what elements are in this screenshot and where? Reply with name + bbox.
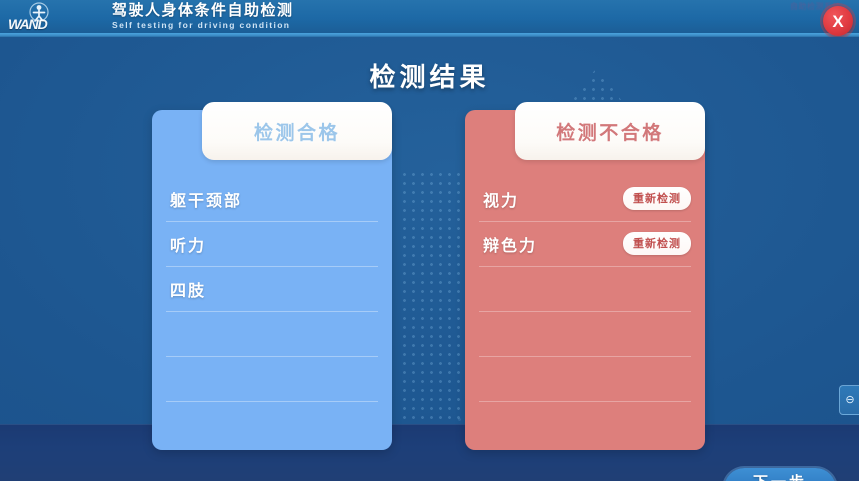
list-item-label: 四肢	[170, 277, 206, 301]
card-pass-tab-label: 检测合格	[254, 118, 340, 145]
list-item[interactable]: 躯干颈部	[152, 176, 392, 221]
list-item-empty	[152, 356, 392, 401]
app-title-en: Self testing for driving condition	[112, 21, 294, 30]
list-item[interactable]: 四肢	[152, 266, 392, 311]
list-item-label: 躯干颈部	[170, 187, 242, 211]
app-title-cn: 驾驶人身体条件自助检测	[112, 3, 294, 18]
brand-logo: WAND	[0, 0, 112, 33]
list-item-empty	[152, 401, 392, 446]
close-icon-label: X	[832, 13, 843, 30]
next-step-button[interactable]: 下一步 next	[724, 468, 836, 481]
list-item[interactable]: 听力	[152, 221, 392, 266]
list-item[interactable]: 视力 重新检测	[465, 176, 705, 221]
card-pass-rows: 躯干颈部 听力 四肢	[152, 176, 392, 450]
list-item-empty	[465, 356, 705, 401]
list-item-empty	[465, 266, 705, 311]
list-item-label: 辩色力	[483, 232, 537, 256]
card-fail-rows: 视力 重新检测 辩色力 重新检测	[465, 176, 705, 450]
header-title-group: 驾驶人身体条件自助检测 Self testing for driving con…	[112, 3, 294, 30]
card-pass-tab: 检测合格	[202, 102, 392, 160]
resize-handle-icon[interactable]: ⊖	[839, 385, 859, 415]
list-item[interactable]: 辩色力 重新检测	[465, 221, 705, 266]
list-item-label: 视力	[483, 187, 519, 211]
next-step-label-cn: 下一步	[753, 475, 807, 481]
list-item-label: 听力	[170, 232, 206, 256]
logo-wordmark: WAND	[8, 16, 47, 32]
retest-button[interactable]: 重新检测	[623, 187, 691, 210]
card-fail-tab-label: 检测不合格	[556, 118, 664, 145]
list-item-empty	[465, 401, 705, 446]
retest-button[interactable]: 重新检测	[623, 232, 691, 255]
resize-handle-glyph: ⊖	[845, 395, 854, 406]
list-item-empty	[152, 311, 392, 356]
content-stage: 检测结果 检测合格 躯干颈部 听力 四肢	[0, 37, 859, 481]
page-title: 检测结果	[0, 57, 859, 94]
card-fail-tab: 检测不合格	[515, 102, 705, 160]
close-button[interactable]: X	[823, 6, 853, 36]
app-header: WAND 驾驶人身体条件自助检测 Self testing for drivin…	[0, 0, 859, 33]
card-fail: 检测不合格 视力 重新检测 辩色力 重新检测	[465, 110, 705, 450]
list-item-empty	[465, 311, 705, 356]
card-pass: 检测合格 躯干颈部 听力 四肢	[152, 110, 392, 450]
